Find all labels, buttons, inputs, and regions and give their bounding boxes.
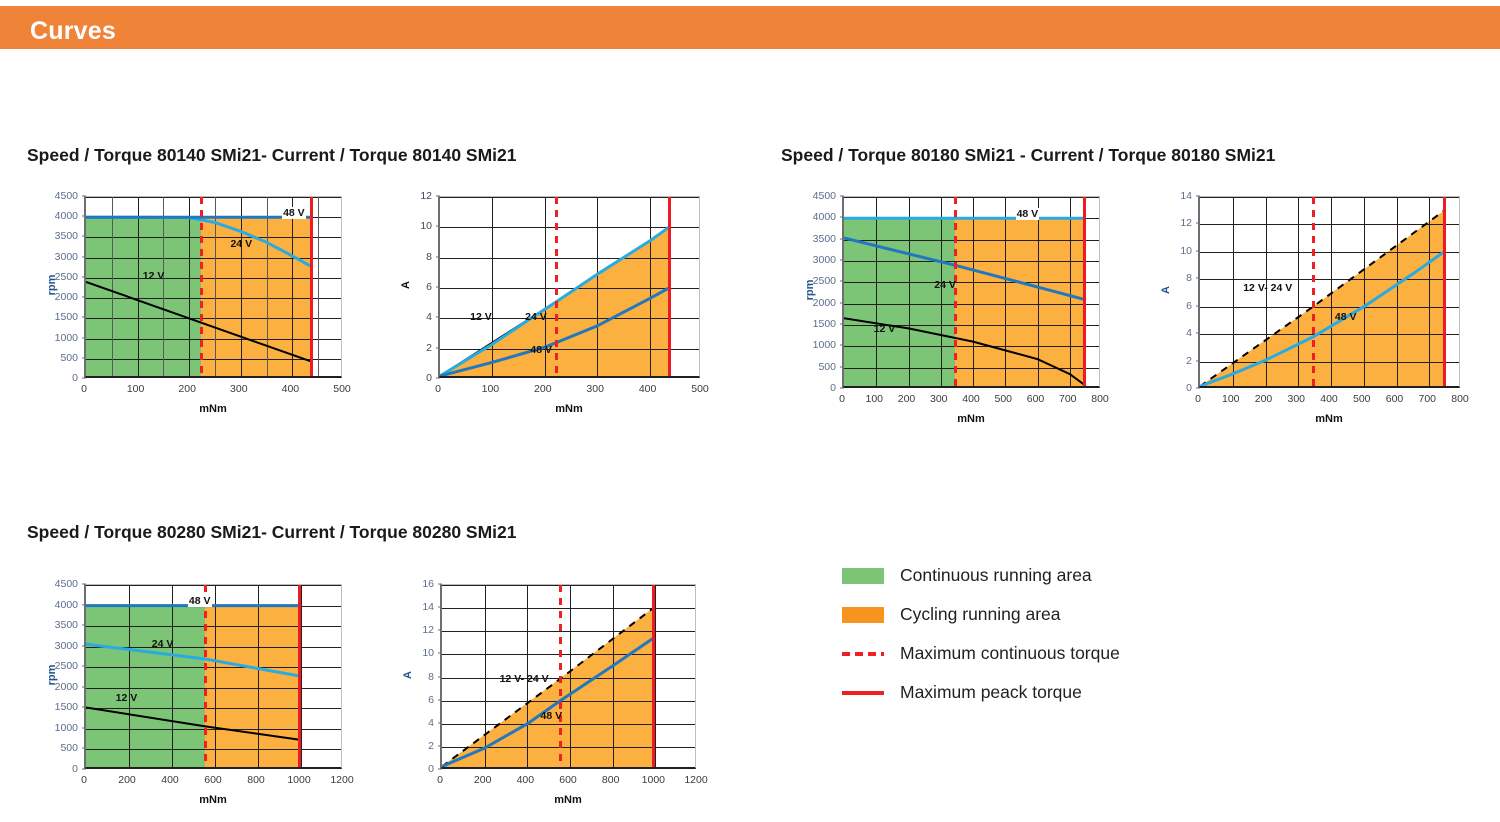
y-axis-tick-label: 6 — [426, 281, 436, 293]
curve-annotation: 12 V- 24 V — [1243, 282, 1292, 294]
curve-annotation: 12 V- 24 V — [500, 673, 549, 685]
curve-48-v — [1200, 252, 1444, 386]
y-axis-title: A — [402, 655, 414, 695]
y-axis-tick-label: 14 — [422, 601, 438, 613]
section-title-80180: Speed / Torque 80180 SMi21 - Current / T… — [781, 145, 1275, 166]
legend-label: Maximum peack torque — [900, 682, 1082, 703]
y-axis-title: A — [1160, 270, 1172, 310]
y-axis-tick-label: 2000 — [55, 291, 82, 303]
plot-area: 12 V24 V48 V — [84, 584, 342, 769]
x-axis-tick-label: 600 — [1027, 393, 1045, 405]
x-axis-tick-label: 600 — [1386, 393, 1404, 405]
x-axis-title: mNm — [1315, 413, 1343, 425]
x-axis-tick-label: 500 — [333, 383, 351, 395]
maximum-peack-torque-line — [1083, 197, 1086, 386]
plot-area: 12 V- 24 V48 V — [1198, 196, 1460, 388]
x-axis-tick-label: 300 — [930, 393, 948, 405]
curve-24-v — [844, 238, 1084, 299]
maximum-peack-torque-line — [310, 197, 313, 376]
chart-speed-torque-80180: 12 V24 V48 V0500100015002000250030003500… — [784, 190, 1134, 435]
maximum-continuous-torque-line — [954, 197, 957, 386]
y-axis-tick-label: 2000 — [813, 297, 840, 309]
chart-current-torque-80140: 12 V24 V48 V0246810120100200300400500mNm… — [390, 190, 740, 425]
maximum-peack-torque-line — [652, 585, 655, 767]
x-axis-tick-label: 300 — [586, 383, 604, 395]
y-axis-tick-label: 500 — [60, 352, 82, 364]
maximum-continuous-torque-line — [1312, 197, 1315, 386]
maximum-continuous-torque-line — [204, 585, 207, 767]
curve-annotation: 48 V — [541, 710, 563, 722]
curve-annotation: 48 V — [1016, 208, 1040, 220]
x-axis-tick-label: 200 — [474, 774, 492, 786]
y-axis-tick-label: 12 — [422, 624, 438, 636]
x-axis-tick-label: 700 — [1059, 393, 1077, 405]
legend-label: Maximum continuous torque — [900, 643, 1120, 664]
curve-annotation: 48 V — [282, 207, 306, 219]
orange-swatch-icon — [842, 607, 900, 623]
section-title-80280: Speed / Torque 80280 SMi21- Current / To… — [27, 522, 517, 543]
legend-item-maximum-peack-torque: Maximum peack torque — [842, 673, 1120, 712]
x-axis-tick-label: 100 — [127, 383, 145, 395]
y-axis-tick-label: 4000 — [55, 210, 82, 222]
y-axis-tick-label: 2 — [428, 740, 438, 752]
page-header-banner: Curves — [0, 6, 1500, 49]
x-axis-tick-label: 400 — [161, 774, 179, 786]
maximum-peack-torque-line — [668, 197, 671, 376]
x-axis-tick-label: 0 — [81, 383, 87, 395]
curve-annotation: 12 V — [874, 323, 896, 335]
x-axis-title: mNm — [554, 794, 582, 806]
plot-area: 12 V- 24 V48 V — [440, 584, 696, 769]
x-axis-title: mNm — [957, 413, 985, 425]
x-axis-tick-label: 1200 — [684, 774, 707, 786]
plot-area: 12 V24 V48 V — [438, 196, 700, 378]
green-swatch-icon — [842, 568, 900, 584]
x-axis-tick-label: 800 — [247, 774, 265, 786]
y-axis-tick-label: 8 — [428, 671, 438, 683]
y-axis-tick-label: 4 — [1186, 327, 1196, 339]
y-axis-tick-label: 3500 — [55, 619, 82, 631]
x-axis-title: mNm — [199, 403, 227, 415]
y-axis-tick-label: 4500 — [55, 190, 82, 202]
x-axis-tick-label: 500 — [1353, 393, 1371, 405]
curve-48-v — [442, 638, 653, 766]
x-axis-tick-label: 1000 — [287, 774, 310, 786]
legend-label: Cycling running area — [900, 604, 1061, 625]
x-axis-tick-label: 0 — [81, 774, 87, 786]
red-dashed-line-icon — [842, 652, 900, 656]
y-axis-tick-label: 2 — [1186, 355, 1196, 367]
x-axis-tick-label: 200 — [1255, 393, 1273, 405]
curve-12-v — [86, 708, 299, 740]
x-axis-tick-label: 200 — [898, 393, 916, 405]
x-axis-tick-label: 800 — [1091, 393, 1109, 405]
y-axis-tick-label: 4500 — [55, 578, 82, 590]
y-axis-tick-label: 2500 — [55, 660, 82, 672]
maximum-continuous-torque-line — [559, 585, 562, 767]
y-axis-tick-label: 12 — [1180, 217, 1196, 229]
y-axis-tick-label: 500 — [818, 361, 840, 373]
chart-current-torque-80280: 12 V- 24 V48 V02468101214160200400600800… — [392, 578, 732, 816]
y-axis-tick-label: 10 — [422, 647, 438, 659]
x-axis-tick-label: 200 — [178, 383, 196, 395]
x-axis-tick-label: 600 — [204, 774, 222, 786]
x-axis-tick-label: 100 — [865, 393, 883, 405]
x-axis-tick-label: 400 — [517, 774, 535, 786]
x-axis-tick-label: 200 — [534, 383, 552, 395]
curve-annotation: 48 V — [530, 344, 552, 356]
x-axis-tick-label: 500 — [691, 383, 709, 395]
x-axis-tick-label: 100 — [482, 383, 500, 395]
chart-speed-torque-80140: 12 V24 V48 V0500100015002000250030003500… — [26, 190, 376, 425]
x-axis-tick-label: 400 — [639, 383, 657, 395]
curve-annotation: 24 V — [934, 279, 956, 291]
maximum-peack-torque-line — [1443, 197, 1446, 386]
y-axis-tick-label: 8 — [426, 251, 436, 263]
legend-label: Continuous running area — [900, 565, 1092, 586]
x-axis-tick-label: 400 — [282, 383, 300, 395]
red-solid-line-icon — [842, 691, 900, 695]
section-title-80140: Speed / Torque 80140 SMi21- Current / To… — [27, 145, 517, 166]
y-axis-title: A — [400, 265, 412, 305]
x-axis-tick-label: 300 — [1287, 393, 1305, 405]
x-axis-tick-label: 0 — [839, 393, 845, 405]
legend-item-continuous-running-area: Continuous running area — [842, 556, 1120, 595]
y-axis-tick-label: 4000 — [813, 211, 840, 223]
y-axis-tick-label: 3500 — [55, 230, 82, 242]
x-axis-tick-label: 0 — [437, 774, 443, 786]
y-axis-tick-label: 6 — [1186, 300, 1196, 312]
y-axis-tick-label: 10 — [1180, 245, 1196, 257]
page-title: Curves — [30, 17, 116, 46]
y-axis-tick-label: 12 — [420, 190, 436, 202]
x-axis-tick-label: 200 — [118, 774, 136, 786]
x-axis-tick-label: 800 — [602, 774, 620, 786]
y-axis-title: rpm — [46, 655, 58, 695]
x-axis-tick-label: 400 — [1320, 393, 1338, 405]
curve-annotation: 12 V — [116, 692, 138, 704]
y-axis-tick-label: 1500 — [55, 311, 82, 323]
y-axis-tick-label: 2500 — [55, 271, 82, 283]
x-axis-tick-label: 100 — [1222, 393, 1240, 405]
y-axis-tick-label: 3000 — [55, 640, 82, 652]
legend-item-maximum-continuous-torque: Maximum continuous torque — [842, 634, 1120, 673]
x-axis-tick-label: 300 — [230, 383, 248, 395]
y-axis-tick-label: 4000 — [55, 599, 82, 611]
y-axis-tick-label: 3000 — [813, 254, 840, 266]
maximum-peack-torque-line — [298, 585, 301, 767]
y-axis-tick-label: 1500 — [813, 318, 840, 330]
y-axis-tick-label: 4 — [426, 311, 436, 323]
y-axis-tick-label: 1000 — [55, 332, 82, 344]
x-axis-tick-label: 1000 — [642, 774, 665, 786]
x-axis-tick-label: 500 — [994, 393, 1012, 405]
curve-annotation: 24 V — [230, 238, 252, 250]
y-axis-tick-label: 2 — [426, 342, 436, 354]
curve-annotation: 48 V — [188, 595, 212, 607]
maximum-continuous-torque-line — [200, 197, 203, 376]
chart-current-torque-80180: 12 V- 24 V48 V02468101214010020030040050… — [1150, 190, 1495, 435]
curve-annotation: 24 V — [525, 311, 547, 323]
maximum-continuous-torque-line — [555, 197, 558, 376]
x-axis-title: mNm — [555, 403, 583, 415]
curve-12-v-24-v — [442, 608, 653, 766]
y-axis-tick-label: 500 — [60, 742, 82, 754]
y-axis-tick-label: 14 — [1180, 190, 1196, 202]
x-axis-tick-label: 800 — [1451, 393, 1469, 405]
legend-item-cycling-running-area: Cycling running area — [842, 595, 1120, 634]
y-axis-tick-label: 1000 — [55, 722, 82, 734]
x-axis-tick-label: 1200 — [330, 774, 353, 786]
curve-12-v-24-v — [1200, 211, 1444, 386]
plot-area: 12 V24 V48 V — [842, 196, 1100, 388]
y-axis-tick-label: 2000 — [55, 681, 82, 693]
x-axis-tick-label: 600 — [559, 774, 577, 786]
y-axis-tick-label: 8 — [1186, 272, 1196, 284]
y-axis-tick-label: 3500 — [813, 233, 840, 245]
plot-area: 12 V24 V48 V — [84, 196, 342, 378]
curve-24-v — [86, 644, 299, 676]
x-axis-title: mNm — [199, 794, 227, 806]
legend: Continuous running area Cycling running … — [842, 556, 1120, 712]
curve-annotation: 24 V — [152, 638, 174, 650]
chart-speed-torque-80280: 12 V24 V48 V0500100015002000250030003500… — [26, 578, 376, 816]
curve-annotation: 12 V — [470, 311, 492, 323]
y-axis-tick-label: 6 — [428, 694, 438, 706]
x-axis-tick-label: 0 — [1195, 393, 1201, 405]
y-axis-tick-label: 2500 — [813, 275, 840, 287]
y-axis-tick-label: 1500 — [55, 701, 82, 713]
y-axis-tick-label: 16 — [422, 578, 438, 590]
x-axis-tick-label: 400 — [962, 393, 980, 405]
x-axis-tick-label: 0 — [435, 383, 441, 395]
x-axis-tick-label: 700 — [1418, 393, 1436, 405]
y-axis-tick-label: 4500 — [813, 190, 840, 202]
y-axis-tick-label: 4 — [428, 717, 438, 729]
curve-annotation: 12 V — [143, 270, 165, 282]
y-axis-tick-label: 1000 — [813, 339, 840, 351]
y-axis-tick-label: 10 — [420, 220, 436, 232]
curve-annotation: 48 V — [1335, 311, 1357, 323]
y-axis-title: rpm — [46, 265, 58, 305]
y-axis-tick-label: 3000 — [55, 251, 82, 263]
y-axis-title: rpm — [804, 270, 816, 310]
